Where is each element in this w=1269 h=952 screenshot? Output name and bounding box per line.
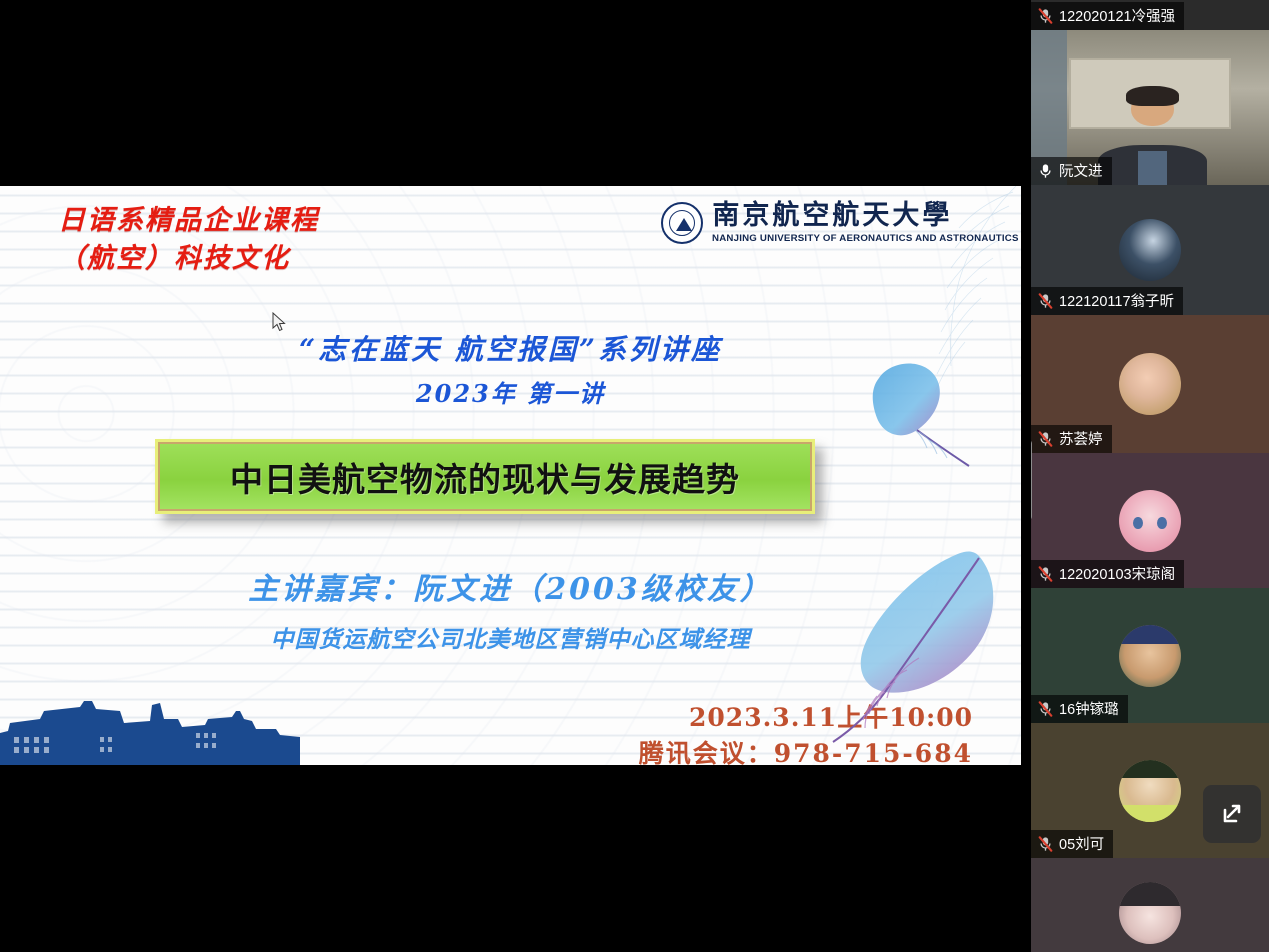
expand-view-button[interactable] <box>1203 785 1261 843</box>
participant-tile[interactable]: 122020121冷强强 <box>1031 0 1269 30</box>
participant-tile[interactable] <box>1031 858 1269 952</box>
campus-silhouette <box>0 675 300 765</box>
shared-screen-area[interactable]: 日语系精品企业课程 （航空）科技文化 南京航空航天大學 NANJING UNIV… <box>0 0 1031 952</box>
participant-sidebar[interactable]: 122020121冷强强 阮文进 <box>1031 0 1269 952</box>
mic-muted-icon <box>1038 431 1053 447</box>
avatar-image <box>1119 490 1181 552</box>
mic-active-icon <box>1038 163 1053 179</box>
participant-name: 122020103宋琼阁 <box>1059 563 1175 584</box>
participant-name: 122120117翁子昕 <box>1059 290 1174 311</box>
participant-nameplate: 122020121冷强强 <box>1031 2 1184 30</box>
participant-tile[interactable]: 16钟镓璐 <box>1031 588 1269 723</box>
university-logo: 南京航空航天大學 NANJING UNIVERSITY OF AERONAUTI… <box>661 202 1013 244</box>
avatar-image <box>1119 882 1181 944</box>
participant-name: 阮文进 <box>1059 160 1103 181</box>
sidebar-scrollbar-thumb[interactable] <box>1031 440 1032 520</box>
participant-tile[interactable]: 122120117翁子昕 <box>1031 185 1269 315</box>
mic-muted-icon <box>1038 293 1053 309</box>
participant-nameplate: 05刘可 <box>1031 830 1113 858</box>
screen-share-window: 日语系精品企业课程 （航空）科技文化 南京航空航天大學 NANJING UNIV… <box>0 0 1269 952</box>
avatar-image <box>1119 625 1181 687</box>
meeting-time: 2023.3.11上午10:00 <box>689 698 973 734</box>
guest-speaker-line: 主讲嘉宾：阮文进（2003级校友） <box>0 564 1021 608</box>
participant-name: 122020121冷强强 <box>1059 5 1175 26</box>
mouse-cursor <box>272 312 286 332</box>
lecture-series-line-1: “志在蓝天 航空报国”系列讲座 <box>0 328 1021 368</box>
participant-name: 苏荟婷 <box>1059 428 1103 449</box>
lecture-series-line-2: 2023年 第一讲 <box>0 374 1021 409</box>
avatar-image <box>1119 760 1181 822</box>
participant-tile[interactable]: 阮文进 <box>1031 30 1269 185</box>
expand-arrow-icon <box>1217 799 1247 829</box>
mic-muted-icon <box>1038 701 1053 717</box>
mic-muted-icon <box>1038 836 1053 852</box>
university-name-en: NANJING UNIVERSITY OF AERONAUTICS AND AS… <box>712 233 1019 244</box>
mic-muted-icon <box>1038 8 1053 24</box>
guest-speaker-title: 中国货运航空公司北美地区营销中心区域经理 <box>0 620 1021 654</box>
participant-nameplate: 苏荟婷 <box>1031 425 1112 453</box>
slide-main-title: 中日美航空物流的现状与发展趋势 <box>230 453 740 501</box>
header-red-line-2: （航空）科技文化 <box>58 240 319 278</box>
participant-name: 05刘可 <box>1059 833 1104 854</box>
participant-nameplate: 122020103宋琼阁 <box>1031 560 1184 588</box>
avatar-image <box>1119 353 1181 415</box>
mic-muted-icon <box>1038 566 1053 582</box>
participant-name: 16钟镓璐 <box>1059 698 1119 719</box>
university-name-cn: 南京航空航天大學 <box>712 202 1013 230</box>
participant-nameplate: 122120117翁子昕 <box>1031 287 1183 315</box>
avatar-image <box>1119 219 1181 281</box>
slide-header-red: 日语系精品企业课程 （航空）科技文化 <box>58 202 319 278</box>
participant-tile[interactable]: 苏荟婷 <box>1031 315 1269 453</box>
participant-nameplate: 阮文进 <box>1031 157 1112 185</box>
participant-tile[interactable]: 122020103宋琼阁 <box>1031 453 1269 588</box>
slide-title-banner: 中日美航空物流的现状与发展趋势 <box>155 439 815 514</box>
meeting-id: 腾讯会议：978-715-684 <box>639 734 973 765</box>
presentation-slide[interactable]: 日语系精品企业课程 （航空）科技文化 南京航空航天大學 NANJING UNIV… <box>0 186 1021 765</box>
header-red-line-1: 日语系精品企业课程 <box>58 202 319 240</box>
participant-nameplate: 16钟镓璐 <box>1031 695 1128 723</box>
university-seal-icon <box>661 202 703 244</box>
